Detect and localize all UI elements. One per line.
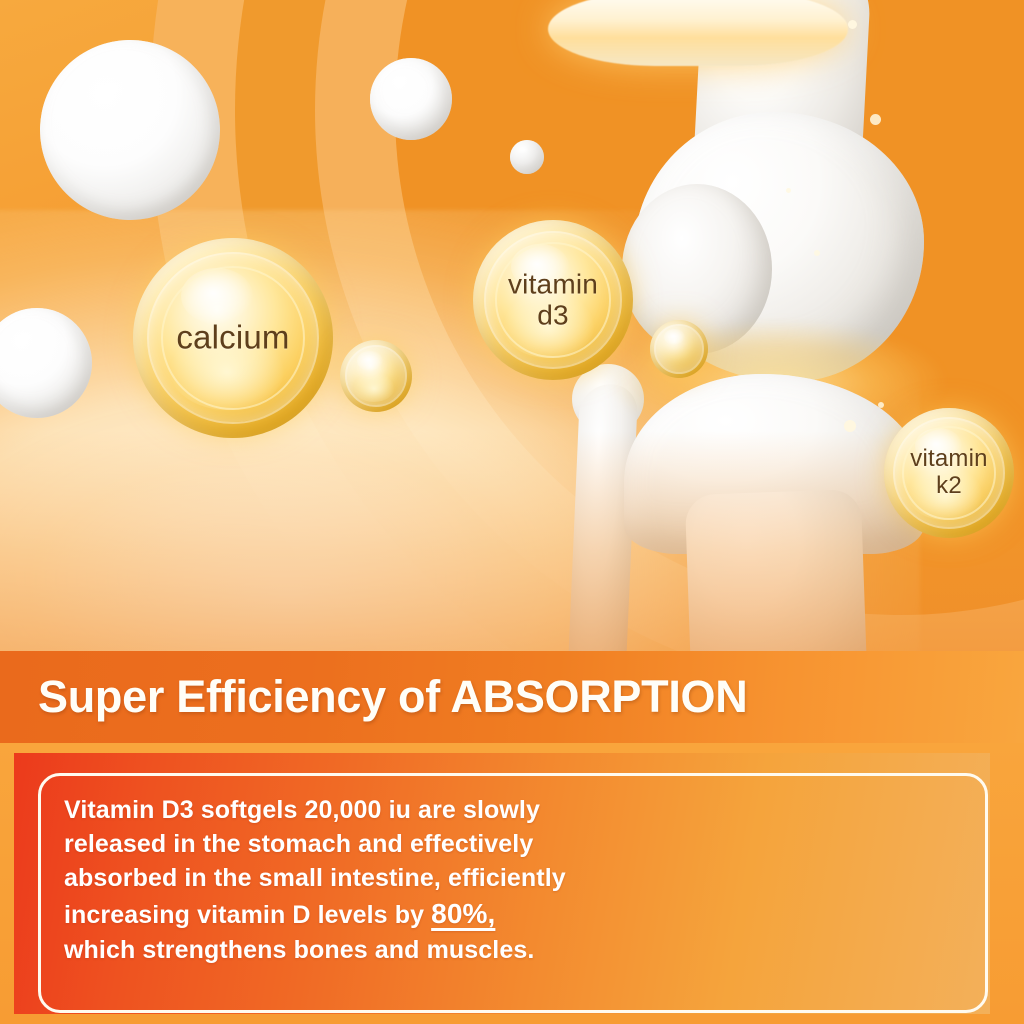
hero-bottom-warm-overlay (0, 431, 1024, 651)
info-description: Vitamin D3 softgels 20,000 iu are slowly… (64, 793, 624, 967)
info-highlight-percent: 80%, (431, 898, 495, 929)
headline-banner: Super Efficiency of ABSORPTION (0, 651, 1024, 743)
joint-cartilage (548, 0, 848, 66)
info-line-2: released in the stomach and effectively (64, 827, 624, 861)
bubble-tiny-gold-knee (650, 320, 708, 378)
sparkle-dot (814, 250, 820, 256)
bubble-glow (353, 372, 395, 402)
bubble-vitamin-d3[interactable]: vitamin d3 (473, 220, 633, 380)
pearl-bubble-large (40, 40, 220, 220)
sparkle-dot (848, 20, 857, 29)
bubble-vitamin-k2[interactable]: vitamin k2 (884, 408, 1014, 538)
info-line-1: Vitamin D3 softgels 20,000 iu are slowly (64, 793, 624, 827)
headline-title: Super Efficiency of ABSORPTION (38, 671, 747, 723)
info-card: Vitamin D3 softgels 20,000 iu are slowly… (14, 753, 990, 1014)
pearl-bubble-tiny (510, 140, 544, 174)
sparkle-dot (870, 114, 881, 125)
bubble-inner-ring (654, 324, 704, 374)
bubble-small-gold (340, 340, 412, 412)
bubble-label-calcium: calcium (133, 320, 333, 357)
bubble-calcium[interactable]: calcium (133, 238, 333, 438)
info-band: Vitamin D3 softgels 20,000 iu are slowly… (0, 743, 1024, 1024)
pearl-bubble-small (370, 58, 452, 140)
info-line-4-text: increasing vitamin D levels by (64, 901, 431, 929)
bubble-label-vitamin-k2: vitamin k2 (884, 446, 1014, 500)
info-line-3: absorbed in the small intestine, efficie… (64, 861, 624, 895)
info-line-5: which strengthens bones and muscles. (64, 933, 624, 967)
hero-illustration-area: calcium vitamin d3 vitamin k2 (0, 0, 1024, 651)
info-line-4: increasing vitamin D levels by 80%, (64, 895, 624, 933)
product-infographic: calcium vitamin d3 vitamin k2 Supe (0, 0, 1024, 1024)
bubble-label-vitamin-d3: vitamin d3 (473, 269, 633, 332)
sparkle-dot (878, 402, 884, 408)
sparkle-dot (786, 188, 791, 193)
